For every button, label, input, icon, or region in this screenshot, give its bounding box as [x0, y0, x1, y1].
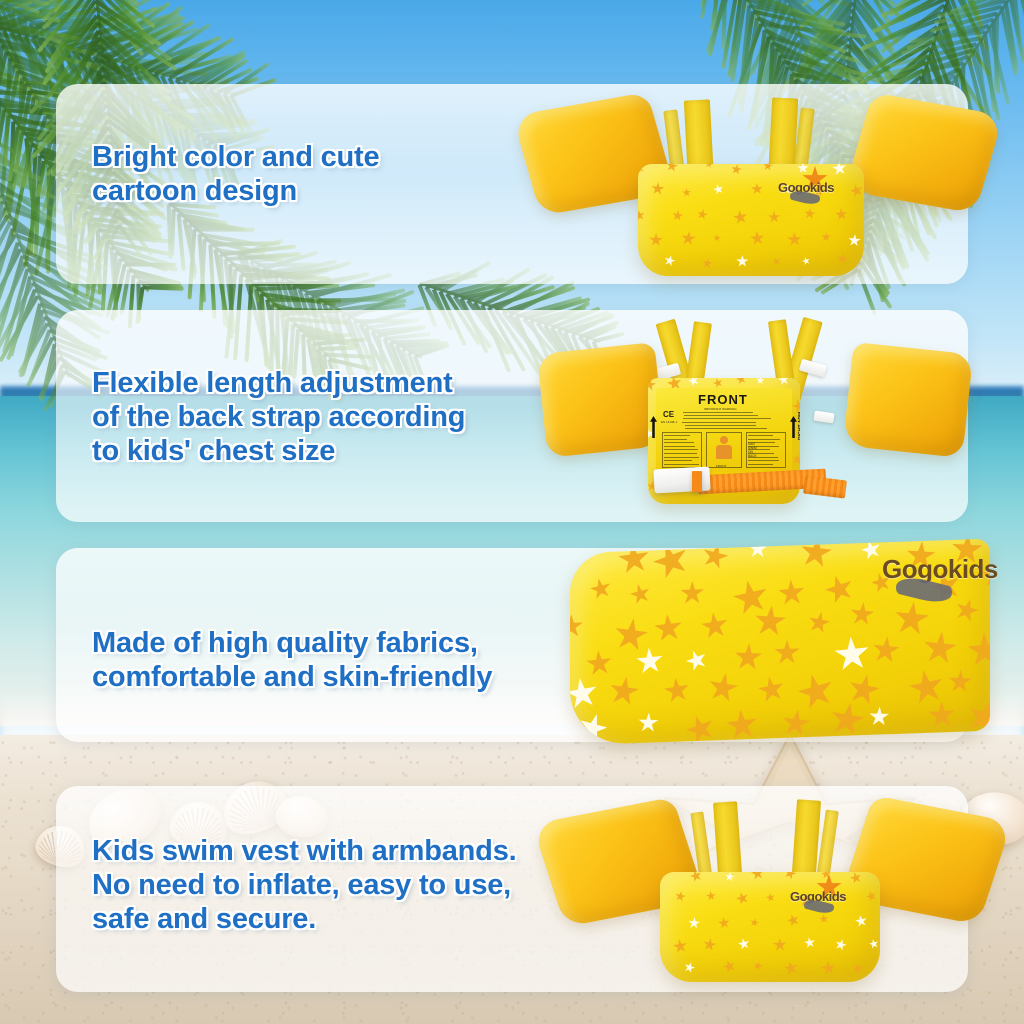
label-subtitle: IMPORTANT WARNING [704, 407, 737, 411]
star-orange [671, 210, 684, 223]
star-orange [649, 233, 663, 247]
star-orange [570, 614, 584, 639]
star-orange [786, 232, 801, 247]
star-orange [804, 207, 817, 220]
star-orange [699, 611, 729, 642]
star-orange [780, 708, 812, 739]
star-orange [798, 539, 834, 571]
star-orange [751, 872, 766, 881]
star-orange [750, 231, 766, 247]
star-orange [628, 581, 653, 606]
star-orange [822, 571, 858, 608]
star-orange [765, 893, 776, 904]
star-white [724, 872, 735, 882]
star-orange [777, 578, 805, 607]
star-orange [705, 890, 716, 901]
star-orange [648, 539, 693, 584]
star-orange [865, 889, 878, 902]
star-white [570, 675, 600, 712]
star-orange [730, 164, 743, 176]
star-white [635, 646, 664, 676]
star-orange [638, 253, 639, 264]
star-orange [852, 962, 864, 974]
strap-slider-lower-right [813, 411, 834, 424]
star-orange [698, 541, 730, 573]
star-orange [665, 164, 679, 173]
star-orange [680, 230, 697, 247]
label-text-line [683, 412, 753, 413]
star-orange [774, 640, 800, 667]
star-orange [849, 601, 876, 627]
feature-text-1: Bright color and cute cartoon design [92, 140, 379, 208]
star-orange [820, 961, 836, 977]
star-orange [705, 671, 740, 705]
star-orange [820, 232, 831, 243]
star-white [575, 710, 611, 745]
star-orange [689, 872, 704, 883]
star-orange [674, 890, 687, 903]
pictogram-head [720, 436, 728, 444]
star-orange [768, 211, 780, 223]
armband-right [845, 92, 1004, 213]
star-white [868, 938, 880, 950]
star-white [834, 938, 849, 953]
star-orange [660, 872, 663, 879]
star-orange [906, 666, 947, 708]
star-orange [963, 697, 990, 740]
product-image-vest-front-2: Gogokids [544, 790, 996, 990]
star-orange [638, 164, 645, 175]
star-white [801, 256, 811, 266]
star-white [737, 937, 751, 951]
star-white [755, 378, 765, 385]
star-white [803, 936, 816, 949]
star-orange [612, 616, 651, 654]
star-white [637, 712, 659, 733]
star-orange [849, 182, 864, 198]
star-orange [732, 209, 749, 226]
star-orange [928, 701, 956, 730]
star-white [683, 646, 710, 673]
star-orange [782, 959, 799, 976]
star-orange [682, 710, 719, 745]
star-orange [672, 938, 689, 955]
star-orange [749, 917, 760, 928]
star-orange [791, 453, 800, 466]
label-text-line [682, 422, 756, 423]
star-orange [763, 164, 774, 171]
star-orange [773, 937, 787, 951]
star-orange [827, 700, 867, 739]
star-orange [752, 959, 764, 971]
instruction-label: FRONT IMPORTANT WARNING CE EN 13138-1 FR… [656, 388, 792, 472]
star-orange [585, 649, 613, 678]
star-orange [835, 208, 849, 222]
star-orange [771, 256, 782, 267]
star-orange [725, 707, 760, 743]
feature-text-3: Made of high quality fabrics, comfortabl… [92, 626, 492, 694]
star-white [686, 378, 700, 387]
label-front-text: FRONT [698, 392, 748, 407]
label-text-line [685, 428, 768, 429]
star-orange [638, 209, 646, 222]
label-text-line [683, 418, 771, 419]
product-image-fabric-closeup: Gogokids [562, 540, 994, 740]
label-box-left [662, 432, 702, 468]
armband-right-back [843, 342, 973, 458]
infographic-canvas: Bright color and cute cartoon design Gog… [0, 0, 1024, 1024]
star-white [847, 233, 861, 247]
product-image-vest-back: FRONT IMPORTANT WARNING CE EN 13138-1 FR… [552, 312, 972, 534]
star-white [736, 255, 749, 268]
belt-buckle [653, 467, 710, 494]
star-orange [660, 917, 662, 927]
star-white [712, 183, 725, 196]
star-orange [701, 257, 713, 269]
star-white [683, 960, 697, 974]
brand-logo-2: Gogokids [788, 874, 864, 918]
star-orange [966, 632, 990, 669]
star-white [663, 254, 677, 268]
star-orange [696, 208, 709, 221]
star-white [833, 635, 871, 674]
pictogram-note-text: SAN SWIM ON BACK [748, 442, 757, 458]
star-orange [752, 605, 787, 639]
ce-mark-icon: CE [663, 410, 674, 419]
star-orange [721, 958, 737, 974]
star-orange [607, 674, 642, 708]
star-orange [588, 576, 613, 602]
star-orange [836, 253, 849, 266]
label-text-line [685, 425, 755, 426]
star-orange [704, 164, 714, 169]
star-orange [845, 671, 883, 708]
child-pictogram-icon [714, 436, 734, 464]
star-orange [751, 182, 764, 195]
right-arm-label: RIGHT ARM [798, 412, 800, 440]
pictogram-body [716, 445, 732, 459]
star-orange [662, 675, 691, 705]
left-arm-label: LEFT ARM [648, 417, 650, 442]
star-white [777, 378, 790, 386]
star-orange [921, 630, 959, 667]
star-white [748, 539, 769, 559]
armband-left-back [537, 342, 665, 458]
star-orange [652, 612, 683, 644]
star-white [869, 706, 890, 727]
brand-logo-closeup: Gogokids [878, 554, 998, 618]
label-text-line [684, 415, 757, 416]
star-orange [870, 635, 901, 665]
star-orange [794, 670, 837, 714]
feature-text-4: Kids swim vest with armbands. No need to… [92, 834, 517, 937]
star-orange [947, 669, 973, 694]
star-orange [702, 937, 718, 953]
star-white [660, 963, 666, 974]
pictogram-caption-text: FRONT [716, 464, 726, 468]
star-orange [756, 674, 787, 705]
brand-logo-1: Gogokids [776, 166, 850, 208]
star-orange [734, 891, 750, 907]
star-orange [680, 580, 705, 605]
cert-code-text: EN 13138-1 [661, 420, 677, 424]
feature-text-2: Flexible length adjustment of the back s… [92, 366, 465, 469]
star-white [687, 917, 700, 930]
star-orange [735, 378, 748, 386]
star-orange [650, 182, 665, 197]
star-orange [682, 187, 692, 197]
belt-buckle-tongue [692, 470, 702, 492]
star-orange [730, 577, 771, 619]
star-orange [570, 544, 585, 571]
waist-belt-tail [803, 476, 847, 499]
star-orange [712, 234, 722, 244]
star-orange [733, 642, 763, 672]
star-orange [617, 541, 652, 577]
product-image-vest-front-1: Gogokids [528, 92, 988, 292]
star-orange [806, 610, 832, 636]
star-orange [717, 916, 731, 930]
